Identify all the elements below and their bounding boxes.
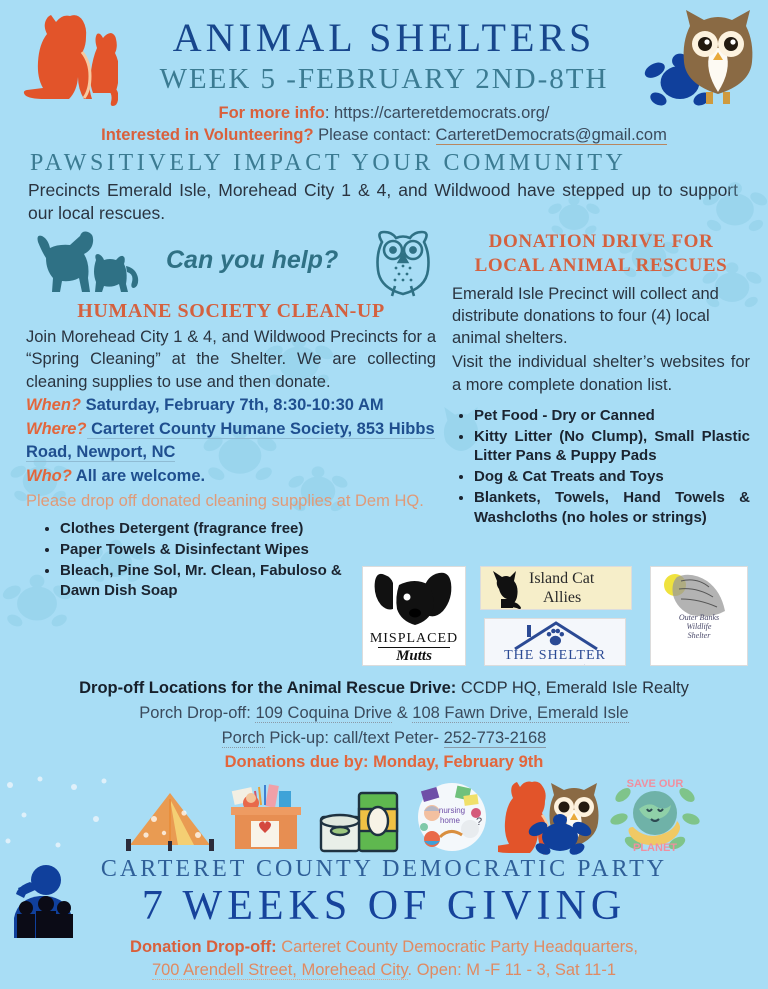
flyer-footer: CARTERET COUNTY DEMOCRATIC PARTY 7 WEEKS… [0,856,768,982]
can-you-help-row: Can you help? [26,222,436,298]
tagline: PAWSITIVELY IMPACT YOUR COMMUNITY [0,150,768,177]
donation-drive-heading-line2: LOCAL ANIMAL RESCUES [452,254,750,278]
volunteer-label: Interested in Volunteering? [101,126,313,144]
volunteer-line: Interested in Volunteering? Please conta… [0,126,768,145]
svg-text:?: ? [476,816,482,828]
black-cat-icon [485,569,529,610]
humane-society-paragraph: Join Morehead City 1 & 4, and Wildwood P… [26,326,436,393]
detail-where: Where? Carteret County Humane Society, 8… [26,418,436,464]
obws-text-line1: Outer Banks [651,613,747,622]
porch-dropoff-sep: & [392,704,412,722]
house-with-paw-icon [485,619,626,651]
porch-dropoff-addr-b: 108 Fawn Drive, Emerald Isle [412,704,628,723]
humane-society-heading: HUMANE SOCIETY CLEAN-UP [26,300,436,323]
porch-dropoff-line: Porch Drop-off: 109 Coquina Drive & 108 … [0,701,768,726]
footer-donation-label: Donation Drop-off: [130,938,277,956]
footer-donation-text-a: Carteret County Democratic Party Headqua… [277,938,638,956]
dog-and-cat-silhouette-icon [34,230,152,294]
donation-paragraph-2: Visit the individual shelter’s websites … [452,351,750,396]
obws-text-line2: Wildlife [651,622,747,631]
misplaced-mutts-text-line2: Mutts [378,647,450,665]
nursing-home-collage-icon: nursing home ? [410,779,494,855]
donation-box-icon [221,781,313,855]
volunteer-text: Please contact: [314,126,436,144]
porch-pickup-line: Porch Pick-up: call/text Peter- 252-773-… [0,726,768,751]
list-item: Blankets, Towels, Hand Towels & Washclot… [474,488,750,528]
outer-banks-wildlife-shelter-logo[interactable]: Outer Banks Wildlife Shelter [650,566,748,666]
right-column: DONATION DRIVE FOR LOCAL ANIMAL RESCUES … [452,222,750,529]
intro-paragraph: Precincts Emerald Isle, Morehead City 1 … [0,177,768,225]
when-value: Saturday, February 7th, 8:30-10:30 AM [81,396,384,414]
dropoff-locations-label: Drop-off Locations for the Animal Rescue… [79,679,456,697]
donation-paragraph-1: Emerald Isle Precinct will collect and d… [452,283,750,350]
where-value: Carteret County Humane Society, 853 Hibb… [26,420,435,462]
detail-when: When? Saturday, February 7th, 8:30-10:30… [26,394,436,417]
porch-pickup-label: Porch [222,729,265,748]
email-link[interactable]: CarteretDemocrats@gmail.com [436,126,667,145]
donation-drive-heading: DONATION DRIVE FOR LOCAL ANIMAL RESCUES [452,230,750,278]
dropoff-locations-line: Drop-off Locations for the Animal Rescue… [0,676,768,701]
canned-food-icon [317,791,405,855]
more-info-label: For more info [218,104,324,122]
island-cat-allies-text-line1: Island Cat [529,570,594,588]
svg-text:nursing: nursing [439,806,465,815]
when-label: When? [26,396,81,414]
donation-items-list: Pet Food - Dry or Canned Kitty Litter (N… [474,406,750,528]
save-our-planet-icon: SAVE OUR PLANET [609,775,701,855]
where-label: Where? [26,420,87,438]
island-cat-allies-text-line2: Allies [543,589,581,607]
porch-pickup-text: Pick-up: call/text Peter- [265,729,444,747]
tent-icon [124,789,216,855]
detail-who: Who? All are welcome. [26,465,436,488]
who-suffix: . [201,467,206,485]
owl-icon [680,8,756,108]
list-item: Paper Towels & Disinfectant Wipes [60,540,436,560]
footer-donation-hours: . Open: M -F 11 - 3, Sat 11-1 [408,961,616,979]
snowflake-decor-icon [0,775,120,855]
more-info-sep: : [325,104,334,122]
island-cat-allies-logo[interactable]: Island Cat Allies [480,566,632,610]
footer-campaign-title: 7 WEEKS OF GIVING [0,884,768,928]
dog-and-cat-silhouette-icon [22,8,118,112]
misplaced-mutts-logo[interactable]: MISPLACED Mutts [362,566,466,666]
list-item: Dog & Cat Treats and Toys [474,467,750,487]
shelter-logos: MISPLACED Mutts Island Cat Allies [362,566,762,670]
porch-dropoff-label: Porch Drop-off: [139,704,255,722]
misplaced-mutts-text-line1: MISPLACED [363,631,465,647]
footer-donation-info: Donation Drop-off: Carteret County Democ… [0,936,768,982]
who-value: All are welcome [72,467,201,485]
dropoff-locations-value: CCDP HQ, Emerald Isle Realty [456,679,689,697]
list-item: Clothes Detergent (fragrance free) [60,519,436,539]
header-owl-turtle-group [644,8,762,116]
website-link[interactable]: https://carteretdemocrats.org/ [334,104,550,122]
obws-text-line3: Shelter [651,631,747,640]
porch-dropoff-addr-a: 109 Coquina Drive [255,704,392,723]
dropoff-block: Drop-off Locations for the Animal Rescue… [0,676,768,772]
dog-owl-turtle-icon [498,779,604,855]
donation-drive-heading-line1: DONATION DRIVE FOR [452,230,750,254]
illustration-strip: nursing home ? [0,775,768,863]
list-item: Kitty Litter (No Clump), Small Plastic L… [474,427,750,467]
flyer-page: ANIMAL SHELTERS WEEK 5 -FEBRUARY 2ND-8TH… [0,0,768,989]
who-label: Who? [26,467,72,485]
can-you-help-text: Can you help? [166,246,338,275]
left-column: Can you help? HUMANE SOCIETY CLEAN-UP Jo… [26,222,436,601]
flyer-header: ANIMAL SHELTERS WEEK 5 -FEBRUARY 2ND-8TH… [0,0,768,148]
list-item: Bleach, Pine Sol, Mr. Clean, Fabuloso & … [60,561,360,601]
the-shelter-subtext: Carteret County Humane Society [485,664,625,666]
the-shelter-text: THE SHELTER [485,648,625,664]
dog-head-icon [363,567,466,633]
svg-text:PLANET: PLANET [633,842,677,854]
footer-donation-address: 700 Arendell Street, Morehead City [152,961,408,980]
porch-pickup-phone[interactable]: 252-773-2168 [444,729,547,748]
svg-text:SAVE OUR: SAVE OUR [626,778,683,790]
list-item: Pet Food - Dry or Canned [474,406,750,426]
dropoff-note: Please drop off donated cleaning supplie… [26,491,436,513]
donations-due-text: Donations due by: Monday, February 9th [0,753,768,772]
the-shelter-logo[interactable]: THE SHELTER Carteret County Humane Socie… [484,618,626,666]
svg-text:home: home [440,816,461,825]
owl-outline-icon [374,224,432,298]
footer-org-name: CARTERET COUNTY DEMOCRATIC PARTY [0,856,768,883]
